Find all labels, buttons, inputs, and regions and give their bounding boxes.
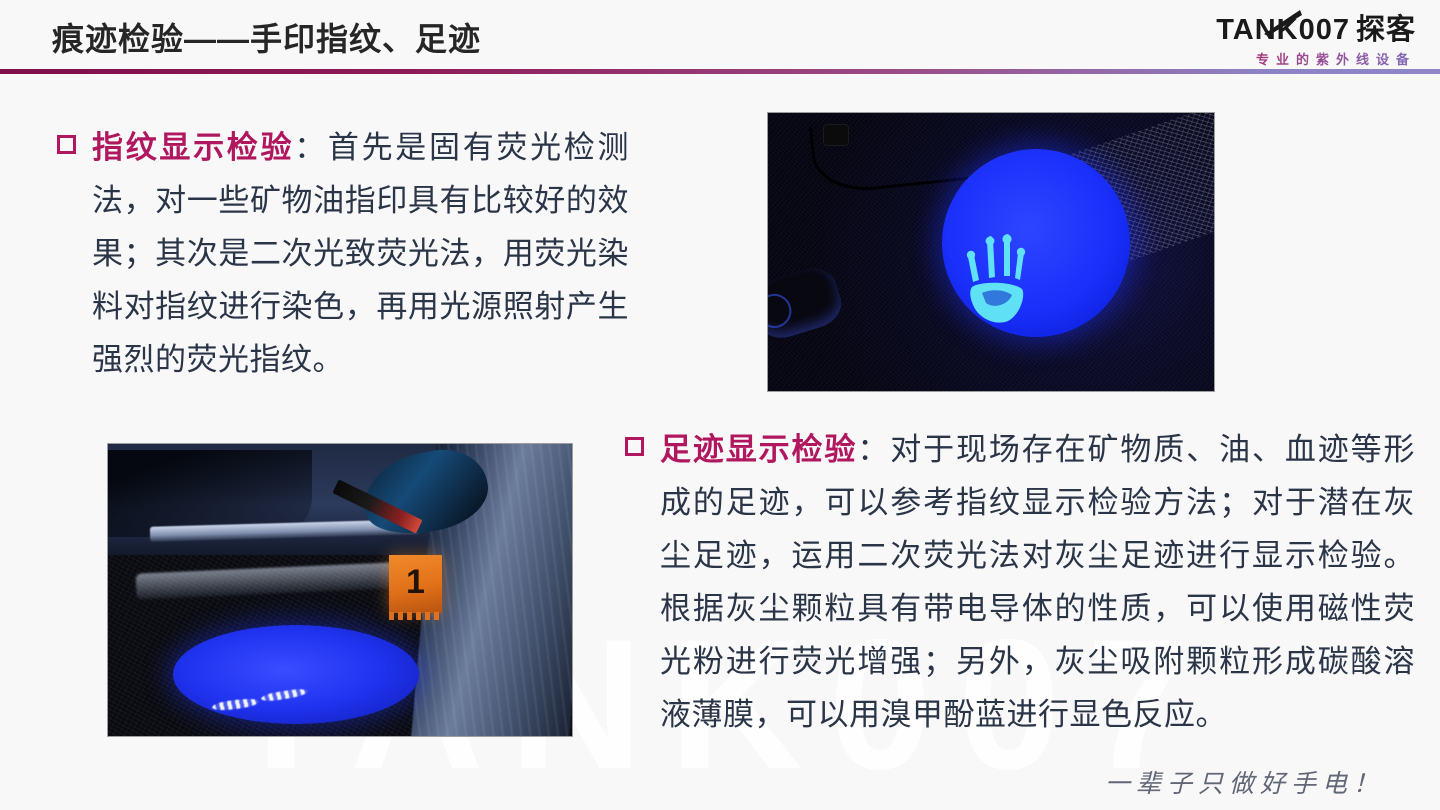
photo-shoeprint-uv: 1 bbox=[107, 443, 573, 737]
bullet-lead-footprint: 足迹显示检验 bbox=[660, 432, 857, 467]
photo-handprint-scene bbox=[768, 113, 1214, 391]
evidence-marker-number: 1 bbox=[389, 555, 442, 613]
shoeprint-impression-right bbox=[261, 687, 308, 703]
bullet-block-fingerprint: 指纹显示检验：首先是固有荧光检测法，对一些矿物油指印具有比较好的效果；其次是二次… bbox=[57, 121, 629, 386]
fluorescent-handprint-icon bbox=[960, 231, 1038, 327]
logo-tagline: 专业的紫外线设备 bbox=[1148, 49, 1428, 68]
photo-shoeprint-scene: 1 bbox=[108, 444, 572, 736]
uv-light-circle bbox=[942, 149, 1130, 337]
hollow-square-bullet-icon bbox=[625, 437, 644, 456]
logo-latin-text: TANK007 bbox=[1216, 14, 1350, 46]
slide-header: 痕迹检验——手印指纹、足迹 TANK007探客 专业的紫外线设备 bbox=[0, 0, 1440, 72]
evidence-marker-base bbox=[389, 612, 442, 620]
hollow-square-bullet-icon bbox=[57, 135, 76, 154]
page-title: 痕迹检验——手印指纹、足迹 bbox=[52, 14, 481, 60]
bullet-separator-footprint: ： bbox=[857, 432, 890, 467]
header-divider bbox=[0, 69, 1440, 74]
bullet-body-footprint: 对于现场存在矿物质、油、血迹等形成的足迹，可以参考指纹显示检验方法；对于潜在灰尘… bbox=[660, 432, 1415, 732]
logo-wordmark: TANK007探客 bbox=[1148, 14, 1428, 46]
evidence-marker: 1 bbox=[389, 555, 442, 613]
plug-connector bbox=[824, 125, 848, 145]
logo-cjk-text: 探客 bbox=[1350, 14, 1416, 46]
bullet-block-footprint: 足迹显示检验：对于现场存在矿物质、油、血迹等形成的足迹，可以参考指纹显示检验方法… bbox=[625, 423, 1415, 741]
bullet-lead-fingerprint: 指纹显示检验 bbox=[92, 130, 294, 165]
bullet-separator-fingerprint: ： bbox=[294, 130, 328, 165]
bullet-paragraph-fingerprint: 指纹显示检验：首先是固有荧光检测法，对一些矿物油指印具有比较好的效果；其次是二次… bbox=[92, 121, 629, 386]
bullet-body-fingerprint: 首先是固有荧光检测法，对一些矿物油指印具有比较好的效果；其次是二次光致荧光法，用… bbox=[92, 130, 629, 377]
brand-logo: TANK007探客 专业的紫外线设备 bbox=[1148, 14, 1428, 68]
footer-slogan: 一辈子只做好手电！ bbox=[1105, 764, 1384, 800]
photo-handprint-uv bbox=[767, 112, 1215, 392]
shoeprint-impression-left bbox=[212, 698, 259, 713]
bullet-paragraph-footprint: 足迹显示检验：对于现场存在矿物质、油、血迹等形成的足迹，可以参考指纹显示检验方法… bbox=[660, 423, 1415, 741]
uv-light-ellipse bbox=[173, 625, 419, 724]
